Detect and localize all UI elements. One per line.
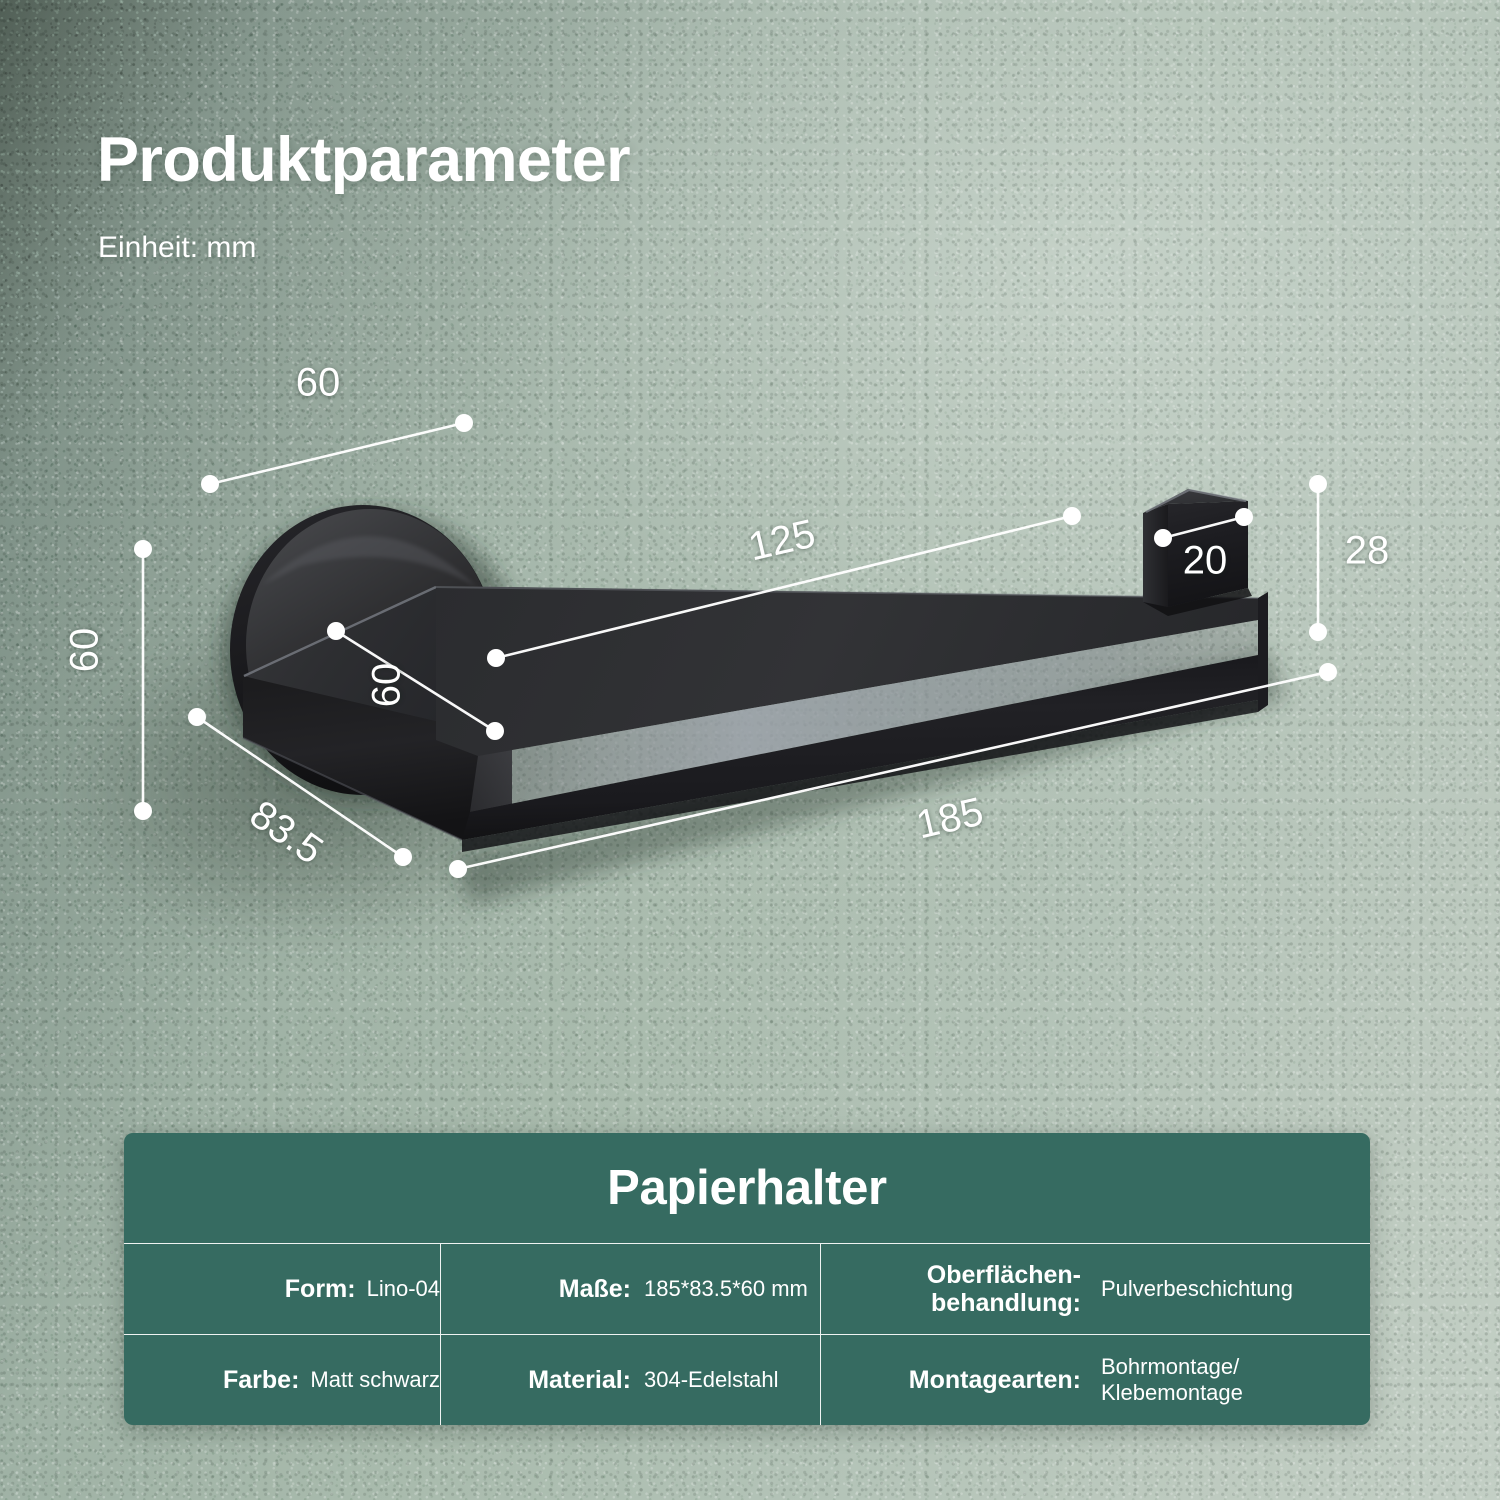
spec-table-body: Form:Lino-04Maße:185*83.5*60 mmOberfläch… [124,1243,1370,1425]
spec-value: Lino-04 [367,1276,440,1302]
leader-line-185 [458,672,1328,869]
spec-key: Montagearten: [849,1366,1081,1394]
spec-cell: Montagearten:Bohrmontage/ Klebemontage [820,1335,1370,1425]
leader-line-60-plate-width [210,423,464,484]
spec-cell: Farbe:Matt schwarz [124,1335,440,1425]
spec-cell: Form:Lino-04 [124,1244,440,1334]
spec-key: Maße: [463,1275,631,1303]
spec-key: Material: [463,1366,631,1394]
dimension-60-arm: 60 [365,663,410,708]
spec-value: 185*83.5*60 mm [644,1276,808,1302]
spec-value: 304-Edelstahl [644,1367,779,1393]
dimension-20-end-block: 20 [1183,539,1228,584]
leader-line-60-arm [336,631,495,731]
spec-table-row: Farbe:Matt schwarzMaterial:304-Edelstahl… [124,1334,1370,1425]
spec-key: Farbe: [181,1366,299,1394]
dimension-28-end-height: 28 [1345,529,1390,574]
spec-cell: Oberflächen- behandlung:Pulverbeschichtu… [820,1244,1370,1334]
dimension-60-plate-height: 60 [63,628,108,673]
spec-key: Form: [238,1275,356,1303]
dimension-endpoint-dots [134,414,1337,878]
dimension-60-plate-width: 60 [296,361,341,406]
spec-table: Papierhalter Form:Lino-04Maße:185*83.5*6… [124,1133,1370,1425]
leader-line-20 [1163,517,1244,538]
spec-value: Pulverbeschichtung [1101,1276,1293,1302]
spec-cell: Maße:185*83.5*60 mm [440,1244,820,1334]
spec-cell: Material:304-Edelstahl [440,1335,820,1425]
spec-table-title: Papierhalter [124,1133,1370,1243]
spec-value: Matt schwarz [310,1367,440,1393]
spec-key: Oberflächen- behandlung: [849,1261,1081,1317]
spec-value: Bohrmontage/ Klebemontage [1101,1354,1243,1407]
spec-table-row: Form:Lino-04Maße:185*83.5*60 mmOberfläch… [124,1243,1370,1334]
